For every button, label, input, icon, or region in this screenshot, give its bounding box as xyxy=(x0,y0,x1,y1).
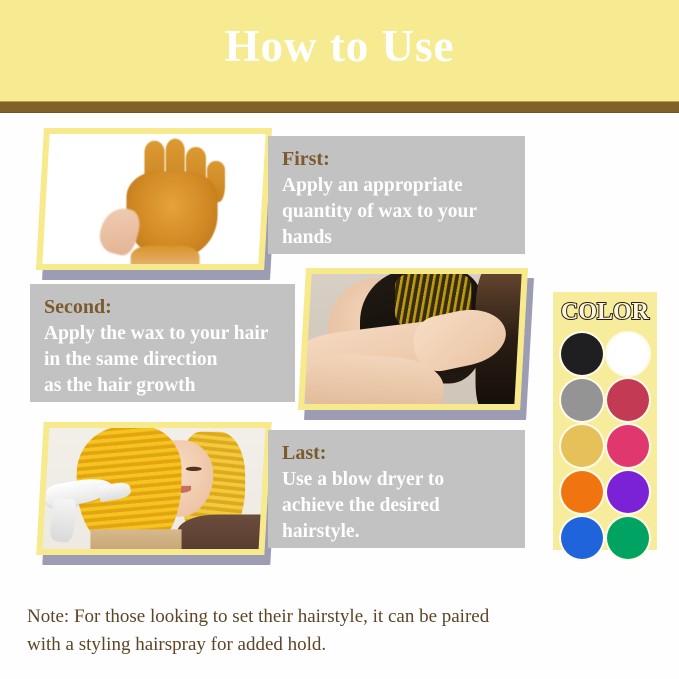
color-swatch-golden[interactable] xyxy=(561,425,603,467)
shoulder xyxy=(177,514,269,552)
step-2-photo-frame xyxy=(298,268,528,410)
color-palette-panel: COLOR xyxy=(553,292,657,550)
how-to-use-infographic: How to Use First: Apply an appropriate xyxy=(0,0,679,679)
blow-dryer-illustration xyxy=(40,424,269,552)
header-banner: How to Use xyxy=(0,0,679,101)
step-3-line-1: Use a blow dryer to xyxy=(282,467,511,493)
step-3-photo-image xyxy=(40,424,269,552)
color-swatch-black[interactable] xyxy=(561,333,603,375)
step-3-photo xyxy=(40,422,268,555)
color-panel-title: COLOR xyxy=(553,299,657,325)
step-1-photo-frame xyxy=(36,128,272,270)
blow-dryer-handle xyxy=(49,498,76,544)
wrist xyxy=(131,246,200,268)
footer-note: Note: For those looking to set their hai… xyxy=(27,603,637,659)
color-swatch-grid xyxy=(553,333,657,567)
step-2-photo-image xyxy=(302,270,525,408)
step-1-photo-image xyxy=(40,130,269,268)
color-swatch-purple[interactable] xyxy=(607,471,649,513)
step-3-text-panel: Last: Use a blow dryer to achieve the de… xyxy=(268,430,525,548)
color-swatch-crimson[interactable] xyxy=(607,379,649,421)
step-2-line-2: in the same direction xyxy=(44,347,281,373)
header-divider-bar xyxy=(0,101,679,113)
step-1-body: Apply an appropriate quantity of wax to … xyxy=(282,173,511,251)
color-swatch-pink[interactable] xyxy=(607,425,649,467)
page-title: How to Use xyxy=(0,16,679,76)
note-line-2: with a styling hairspray for added hold. xyxy=(27,631,637,659)
table-surface xyxy=(90,530,182,553)
step-2-text-panel: Second: Apply the wax to your hair in th… xyxy=(30,284,295,402)
step-1-line-1: Apply an appropriate xyxy=(282,173,511,199)
color-swatch-orange[interactable] xyxy=(561,471,603,513)
step-3-body: Use a blow dryer to achieve the desired … xyxy=(282,467,511,545)
step-2-body: Apply the wax to your hair in the same d… xyxy=(44,321,281,399)
step-1-label: First: xyxy=(282,146,511,172)
step-1-text-panel: First: Apply an appropriate quantity of … xyxy=(268,136,525,254)
step-2-label: Second: xyxy=(44,294,281,320)
note-line-1: Note: For those looking to set their hai… xyxy=(27,603,637,631)
step-2-line-1: Apply the wax to your hair xyxy=(44,321,281,347)
step-1-line-3: hands xyxy=(282,225,511,251)
applying-wax-illustration xyxy=(302,270,525,408)
step-2-photo xyxy=(302,268,524,410)
step-3-line-3: hairstyle. xyxy=(282,519,511,545)
step-3-photo-frame xyxy=(36,422,271,555)
color-swatch-white[interactable] xyxy=(607,333,649,375)
color-swatch-green[interactable] xyxy=(607,517,649,559)
step-3-line-2: achieve the desired xyxy=(282,493,511,519)
color-swatch-gray[interactable] xyxy=(561,379,603,421)
step-3-label: Last: xyxy=(282,440,511,466)
hand-with-wax-illustration xyxy=(40,130,269,268)
step-2-line-3: as the hair growth xyxy=(44,373,281,399)
color-swatch-blue[interactable] xyxy=(561,517,603,559)
palm xyxy=(127,171,219,256)
step-1-line-2: quantity of wax to your xyxy=(282,199,511,225)
step-1-photo xyxy=(40,128,268,270)
